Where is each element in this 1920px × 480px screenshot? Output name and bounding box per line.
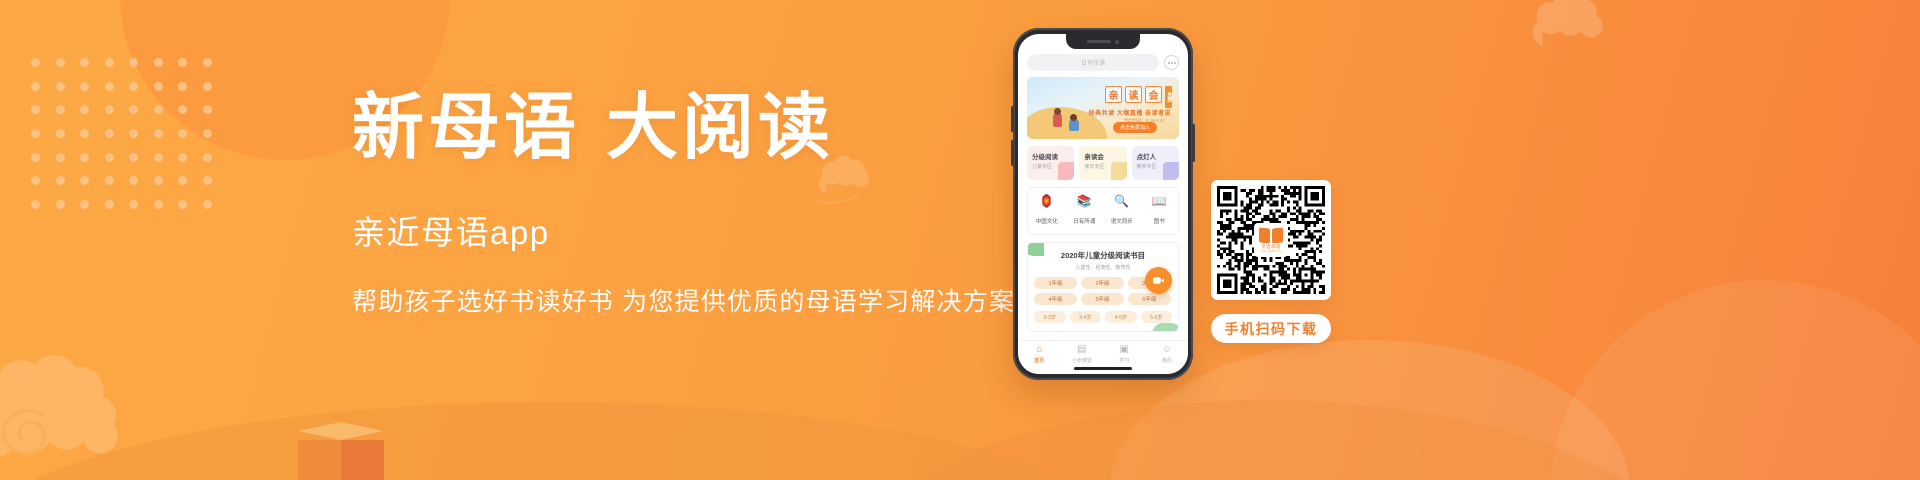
- tab-label: 首页: [1018, 357, 1061, 364]
- category-card-title: 分级阅读: [1032, 151, 1074, 161]
- decor-hill-front: [0, 402, 1140, 480]
- decor-dot: [31, 82, 40, 91]
- decor-dot: [178, 105, 187, 114]
- notes-icon: ▤: [1061, 345, 1104, 355]
- age-chip[interactable]: 4-5岁: [1105, 311, 1137, 323]
- cloud-icon-left: [0, 336, 204, 474]
- decor-dot: [203, 200, 212, 209]
- hero-cta-button[interactable]: 点击免费加入: [1113, 122, 1157, 133]
- user-icon: ☺: [1146, 345, 1189, 355]
- decor-dot: [105, 82, 114, 91]
- category-card-decor: [1058, 162, 1074, 180]
- tab-label: 学习: [1103, 357, 1146, 364]
- decor-dot: [31, 129, 40, 138]
- decor-dot: [154, 153, 163, 162]
- decor-cube: [298, 422, 384, 480]
- decor-hill-back: [820, 400, 1720, 480]
- tab-home[interactable]: ⌂首页: [1018, 345, 1061, 374]
- decor-dot: [154, 58, 163, 67]
- decor-dot: [105, 129, 114, 138]
- category-card-row: 分级阅读儿童专区亲读会家长专区点灯人教师专区: [1027, 146, 1179, 180]
- book-icon: 📖: [1141, 195, 1179, 207]
- qr-code[interactable]: 亲近母语 QIN JIN MU YU: [1217, 186, 1325, 294]
- decor-dot: [178, 153, 187, 162]
- age-chip[interactable]: 5-6岁: [1141, 311, 1173, 323]
- decor-dot: [56, 105, 65, 114]
- decor-dot: [129, 82, 138, 91]
- decor-dot: [31, 153, 40, 162]
- hero-child-red: [1053, 113, 1062, 127]
- age-chip-row: 0-3岁3-4岁4-5岁5-6岁: [1034, 311, 1172, 323]
- phone-notch: [1066, 34, 1140, 49]
- quick-link-book[interactable]: 📖图书: [1141, 195, 1179, 228]
- tab-label: 小步课堂: [1061, 357, 1104, 364]
- decor-dot: [129, 176, 138, 185]
- grade-chip[interactable]: 5年级: [1081, 293, 1124, 305]
- page-title: 新母语大阅读: [352, 92, 1052, 164]
- quick-link-book-stack[interactable]: 📚日有所诵: [1066, 195, 1104, 228]
- banner-tagline: 帮助孩子选好书读好书 为您提供优质的母语学习解决方案: [352, 282, 1052, 318]
- quick-link-label: 中国文化: [1036, 219, 1058, 225]
- decor-dot: [203, 129, 212, 138]
- age-chip[interactable]: 3-4岁: [1070, 311, 1102, 323]
- decor-dot: [31, 200, 40, 209]
- decor-dot: [154, 129, 163, 138]
- phone-screen: 日有所诵 亲读会免费 经典共读 大咖直播 亲读者说 活动时间：9.16-9.27…: [1018, 34, 1188, 374]
- decor-dot: [56, 58, 65, 67]
- quick-link-lantern[interactable]: 🏮中国文化: [1028, 195, 1066, 228]
- decor-dot: [56, 82, 65, 91]
- qr-center-logo: 亲近母语 QIN JIN MU YU: [1254, 223, 1288, 257]
- decor-circle-bottom-right: [1550, 280, 1920, 480]
- quick-link-label: 图书: [1154, 219, 1165, 225]
- decor-dot: [80, 200, 89, 209]
- lantern-icon: 🏮: [1028, 195, 1066, 207]
- category-card[interactable]: 点灯人教师专区: [1132, 146, 1179, 180]
- search-input[interactable]: 日有所诵: [1027, 54, 1159, 71]
- phone-volume-up-button: [1011, 106, 1014, 132]
- download-button[interactable]: 手机扫码下载: [1211, 314, 1331, 343]
- decor-dot: [105, 105, 114, 114]
- decor-dot: [129, 58, 138, 67]
- quick-link-search-circle[interactable]: 🔍语文同步: [1103, 195, 1141, 228]
- grade-chip[interactable]: 1年级: [1034, 277, 1077, 289]
- decor-dot: [154, 200, 163, 209]
- qr-download-block: 亲近母语 QIN JIN MU YU 手机扫码下载: [1211, 180, 1331, 343]
- camera-icon: [1115, 40, 1119, 44]
- hero-free-tag: 免费: [1165, 86, 1172, 108]
- decor-dot: [80, 105, 89, 114]
- decor-dot: [56, 176, 65, 185]
- hero-title: 亲读会免费: [1105, 86, 1172, 108]
- hero-title-char: 会: [1145, 86, 1162, 103]
- decor-dot: [56, 153, 65, 162]
- hero-banner-card[interactable]: 亲读会免费 经典共读 大咖直播 亲读者说 活动时间：9.16-9.27 点击免费…: [1027, 77, 1179, 139]
- decor-dot: [203, 82, 212, 91]
- book-logo-icon: [1259, 228, 1283, 243]
- grade-chip[interactable]: 2年级: [1081, 277, 1124, 289]
- decor-dot: [56, 129, 65, 138]
- category-card[interactable]: 亲读会家长专区: [1079, 146, 1126, 180]
- headline-part-2: 大阅读: [606, 88, 834, 168]
- clipboard-icon: ▣: [1103, 345, 1146, 355]
- home-icon: ⌂: [1018, 345, 1061, 355]
- booklist-card[interactable]: 2020年儿童分级阅读书目 儿童性、经典性、教育性 1年级2年级3年级4年级5年…: [1027, 242, 1179, 332]
- leaf-decor-right: [1152, 323, 1179, 332]
- app-name-subtitle: 亲近母语app: [352, 206, 1052, 254]
- decor-dot: [154, 82, 163, 91]
- decor-dot: [203, 176, 212, 185]
- decor-dot: [105, 58, 114, 67]
- decor-dot: [129, 153, 138, 162]
- tab-user[interactable]: ☺我的: [1146, 345, 1189, 374]
- hero-title-char: 亲: [1105, 86, 1122, 103]
- category-card-title: 点灯人: [1137, 151, 1179, 161]
- speaker-icon: [1087, 40, 1111, 43]
- age-chip[interactable]: 0-3岁: [1034, 311, 1066, 323]
- decor-dot: [178, 129, 187, 138]
- decor-dot: [203, 105, 212, 114]
- decor-dot: [178, 58, 187, 67]
- decor-dot: [203, 58, 212, 67]
- phone-power-button: [1192, 124, 1195, 162]
- tab-label: 我的: [1146, 357, 1189, 364]
- promo-banner: 新母语大阅读 亲近母语app 帮助孩子选好书读好书 为您提供优质的母语学习解决方…: [0, 0, 1920, 480]
- quick-link-label: 日有所诵: [1073, 219, 1095, 225]
- decor-dot: [31, 105, 40, 114]
- headline-part-1: 新母语: [352, 88, 580, 168]
- category-card[interactable]: 分级阅读儿童专区: [1027, 146, 1074, 180]
- hero-title-char: 读: [1125, 86, 1142, 103]
- decor-dot: [80, 153, 89, 162]
- decor-dot: [154, 105, 163, 114]
- decor-dot: [105, 153, 114, 162]
- hero-child-red-head: [1054, 108, 1061, 115]
- decor-dot: [105, 176, 114, 185]
- quick-link-label: 语文同步: [1111, 219, 1133, 225]
- decor-dot: [129, 129, 138, 138]
- decor-dot: [154, 176, 163, 185]
- category-card-title: 亲读会: [1084, 151, 1126, 161]
- more-options-icon[interactable]: [1164, 55, 1179, 70]
- decor-dot: [178, 176, 187, 185]
- decor-dot: [56, 200, 65, 209]
- search-circle-icon: 🔍: [1103, 195, 1141, 207]
- decor-dot: [80, 82, 89, 91]
- play-video-button[interactable]: [1145, 267, 1172, 294]
- category-card-decor: [1111, 162, 1127, 180]
- decor-dot: [80, 176, 89, 185]
- qr-card: 亲近母语 QIN JIN MU YU: [1211, 180, 1331, 300]
- play-icon: [1152, 274, 1165, 287]
- decor-dot: [80, 58, 89, 67]
- grade-chip[interactable]: 6年级: [1128, 293, 1171, 305]
- decor-dot: [31, 58, 40, 67]
- decor-dot: [178, 200, 187, 209]
- qr-logo-en: QIN JIN MU YU: [1261, 250, 1282, 253]
- decor-dot-grid: [31, 58, 227, 224]
- home-indicator: [1074, 367, 1132, 370]
- hero-child-blue-head: [1070, 114, 1077, 121]
- category-card-decor: [1163, 162, 1179, 180]
- decor-dot: [80, 129, 89, 138]
- banner-copy: 新母语大阅读 亲近母语app 帮助孩子选好书读好书 为您提供优质的母语学习解决方…: [352, 92, 1052, 318]
- decor-dot: [31, 176, 40, 185]
- cloud-icon-top-right: [1520, 0, 1670, 70]
- grade-chip[interactable]: 4年级: [1034, 293, 1077, 305]
- decor-dot: [105, 200, 114, 209]
- decor-dot: [129, 105, 138, 114]
- decor-dot: [203, 153, 212, 162]
- phone-volume-down-button: [1011, 140, 1014, 166]
- decor-dot: [129, 200, 138, 209]
- decor-dot: [178, 82, 187, 91]
- hero-subtitle: 经典共读 大咖直播 亲读者说: [1089, 108, 1171, 117]
- phone-mockup: 日有所诵 亲读会免费 经典共读 大咖直播 亲读者说 活动时间：9.16-9.27…: [1013, 28, 1193, 380]
- booklist-title: 2020年儿童分级阅读书目: [1034, 250, 1172, 261]
- book-stack-icon: 📚: [1066, 195, 1104, 207]
- quick-link-row: 🏮中国文化📚日有所诵🔍语文同步📖图书: [1027, 187, 1179, 235]
